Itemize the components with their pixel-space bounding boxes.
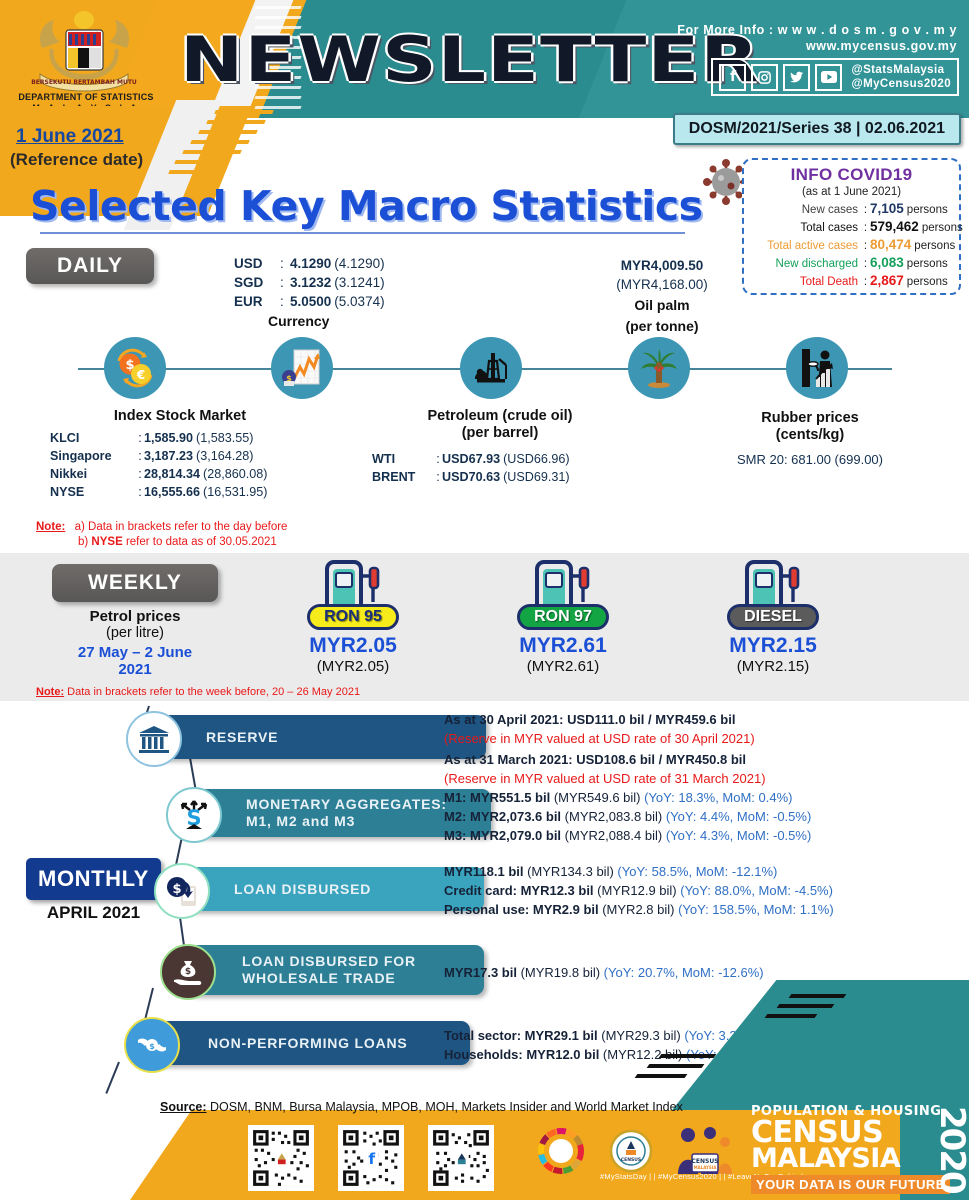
dosm-crest-logo: BERSEKUTU BERTAMBAH MUTU xyxy=(22,8,147,96)
handle-mycensus: @MyCensus2020 xyxy=(851,77,951,91)
fuel-tag-diesel: DIESEL xyxy=(727,604,819,630)
rubber-caption-2: (cents/kg) xyxy=(690,427,930,444)
m2-rest: (MYR2,083.8 bil) xyxy=(561,809,666,824)
loan-creditcard-change: (YoY: 88.0%, MoM: -4.5%) xyxy=(680,883,833,898)
currency-values: USD : 4.1290 (4.1290) SGD : 3.1232 (3.12… xyxy=(234,254,385,311)
oil-palm-value: MYR4,009.50 xyxy=(592,256,732,275)
daily-note: Note: a) Data in brackets refer to the d… xyxy=(36,520,287,550)
currency-previous: (3.1241) xyxy=(334,273,384,292)
petroleum-label: BRENT xyxy=(372,468,434,486)
npl-handshake-icon: $ xyxy=(124,1017,180,1073)
monthly-row-label-line1: MONETARY AGGREGATES: xyxy=(246,796,447,813)
daily-note-a: a) Data in brackets refer to the day bef… xyxy=(75,521,288,533)
money-bag-hand-icon: $ xyxy=(160,944,216,1000)
sdg-wheel-icon xyxy=(538,1128,584,1174)
monthly-row-loan-disbursed[interactable]: LOAN DISBURSED xyxy=(178,867,484,911)
petroleum-colon: : xyxy=(434,450,442,468)
fuel-previous-ron97: (MYR2.61) xyxy=(488,658,638,675)
svg-text:$: $ xyxy=(172,882,181,897)
fuel-previous-diesel: (MYR2.15) xyxy=(698,658,848,675)
title-divider xyxy=(40,232,685,234)
weekly-caption-3: 27 May – 2 June 2021 xyxy=(60,644,210,678)
footer-stripes-top xyxy=(750,990,870,1030)
covid-colon: : xyxy=(861,204,870,216)
oil-palm-caption-1: Oil palm xyxy=(592,296,732,315)
index-label: Nikkei xyxy=(50,465,136,483)
index-label: NYSE xyxy=(50,483,136,501)
weekly-caption-2: (per litre) xyxy=(60,625,210,641)
wholesale-change: (YoY: 20.7%, MoM: -12.6%) xyxy=(604,965,764,980)
census-logo-block: POPULATION & HOUSING CENSUS MALAYSIA YOU… xyxy=(751,1104,961,1194)
covid-value: 579,462 xyxy=(870,219,919,234)
wholesale-bold: MYR17.3 bil xyxy=(444,965,517,980)
source-text: DOSM, BNM, Bursa Malaysia, MPOB, MOH, Ma… xyxy=(207,1100,683,1114)
source-label: Source: xyxy=(160,1100,207,1114)
rubber-caption-1: Rubber prices xyxy=(690,410,930,427)
reserve-text: As at 30 April 2021: USD111.0 bil / MYR4… xyxy=(444,710,964,788)
infographic-page: BERSEKUTU BERTAMBAH MUTU DEPARTMENT OF S… xyxy=(0,0,969,1200)
svg-text:$: $ xyxy=(149,1042,155,1051)
loan-personal-rest: (MYR2.8 bil) xyxy=(599,902,678,917)
wholesale-line: MYR17.3 bil (MYR19.8 bil) (YoY: 20.7%, M… xyxy=(444,963,964,982)
weekly-caption: Petrol prices (per litre) 27 May – 2 Jun… xyxy=(60,608,210,678)
svg-text:CENSUS: CENSUS xyxy=(621,1157,641,1163)
social-handles: @StatsMalaysia @MyCensus2020 xyxy=(851,63,951,91)
rubber-block: Rubber prices (cents/kg) SMR 20: 681.00 … xyxy=(690,410,930,467)
loan-personal-line: Personal use: MYR2.9 bil (MYR2.8 bil) (Y… xyxy=(444,900,964,919)
m1-rest: (MYR549.6 bil) xyxy=(550,790,644,805)
petroleum-block: Petroleum (crude oil) (per barrel) WTI :… xyxy=(372,408,628,486)
weekly-note-text: Data in brackets refer to the week befor… xyxy=(64,686,360,698)
covid-colon: : xyxy=(861,222,870,234)
youtube-icon[interactable] xyxy=(815,64,842,91)
currency-value: 4.1290 xyxy=(290,254,331,273)
loan-creditcard-rest: (MYR12.9 bil) xyxy=(594,883,681,898)
fuel-tag-ron97: RON 97 xyxy=(517,604,609,630)
currency-row-usd: USD : 4.1290 (4.1290) xyxy=(234,254,385,273)
covid-label: Total cases xyxy=(750,222,861,234)
page-title: Selected Key Macro Statistics xyxy=(30,182,703,230)
index-colon: : xyxy=(136,447,144,465)
fuel-ron95: RON 95 MYR2.05 (MYR2.05) xyxy=(278,558,428,675)
currency-code: USD xyxy=(234,254,280,273)
fuel-ron97: RON 97 MYR2.61 (MYR2.61) xyxy=(488,558,638,675)
monthly-row-label: LOAN DISBURSED xyxy=(234,881,371,898)
petroleum-colon: : xyxy=(434,468,442,486)
covid-colon: : xyxy=(861,276,870,288)
covid-label: Total active cases xyxy=(750,240,861,252)
weekly-note-label: Note: xyxy=(36,686,64,698)
svg-text:CENSUS: CENSUS xyxy=(691,1158,718,1165)
covid-value: 6,083 xyxy=(870,255,904,270)
covid-row-total-cases: Total cases : 579,462 persons xyxy=(744,219,959,234)
fuel-price-ron97: MYR2.61 xyxy=(488,634,638,658)
index-row-nikkei: Nikkei : 28,814.34 (28,860.08) xyxy=(50,465,310,483)
currency-value: 5.0500 xyxy=(290,292,331,311)
petroleum-row-wti: WTI : USD67.93 (USD66.96) xyxy=(372,450,628,468)
monthly-row-label: RESERVE xyxy=(206,729,278,746)
m2-line: M2: MYR2,073.6 bil (MYR2,083.8 bil) (YoY… xyxy=(444,807,964,826)
reserve-line-2: As at 31 March 2021: USD108.6 bil / MYR4… xyxy=(444,750,964,769)
reference-date-label: (Reference date) xyxy=(10,150,143,170)
petroleum-previous: (USD69.31) xyxy=(503,468,570,486)
covid-unit: persons xyxy=(907,258,948,270)
covid-value: 7,105 xyxy=(870,201,904,216)
wholesale-rest: (MYR19.8 bil) xyxy=(517,965,604,980)
index-colon: : xyxy=(136,429,144,447)
petroleum-value: USD70.63 xyxy=(442,468,500,486)
palm-tree-icon xyxy=(628,337,690,399)
covid-title: INFO COVID19 xyxy=(744,165,959,185)
currency-exchange-icon: $ € xyxy=(104,337,166,399)
connector-line xyxy=(105,1062,120,1094)
currency-code: SGD xyxy=(234,273,280,292)
covid-row-total-active-cases: Total active cases : 80,474 persons xyxy=(744,237,959,252)
index-previous: (16,531.95) xyxy=(203,483,267,501)
index-previous: (3,164.28) xyxy=(196,447,253,465)
daily-note-label: Note: xyxy=(36,521,65,533)
index-value: 16,555.66 xyxy=(144,483,200,501)
daily-note-b-rest: refer to data as of 30.05.2021 xyxy=(123,536,277,548)
monthly-row-label-line2: M1, M2 and M3 xyxy=(246,813,355,830)
currency-colon: : xyxy=(280,273,290,292)
reference-date: 1 June 2021 xyxy=(16,126,124,148)
weekly-caption-1: Petrol prices xyxy=(60,608,210,625)
svg-text:BERSEKUTU BERTAMBAH MUTU: BERSEKUTU BERTAMBAH MUTU xyxy=(31,79,137,86)
series-badge: DOSM/2021/Series 38 | 02.06.2021 xyxy=(673,113,961,145)
m1-bold: M1: MYR551.5 bil xyxy=(444,790,550,805)
index-value: 1,585.90 xyxy=(144,429,193,447)
index-previous: (1,583.55) xyxy=(196,429,253,447)
social-media-box: f @StatsMalaysia @MyCensus2020 xyxy=(711,58,959,96)
svg-text:MALAYSIA: MALAYSIA xyxy=(694,1165,718,1170)
monthly-period: APRIL 2021 xyxy=(26,903,161,923)
covid-row-new-cases: New cases : 7,105 persons xyxy=(744,201,959,216)
petroleum-row-brent: BRENT : USD70.63 (USD69.31) xyxy=(372,468,628,486)
index-previous: (28,860.08) xyxy=(203,465,267,483)
oil-palm-values: MYR4,009.50 (MYR4,168.00) Oil palm (per … xyxy=(592,256,732,336)
wholesale-trade-text: MYR17.3 bil (MYR19.8 bil) (YoY: 20.7%, M… xyxy=(444,963,964,982)
npl-households-bold: Households: MYR12.0 bil xyxy=(444,1047,599,1062)
index-colon: : xyxy=(136,465,144,483)
m3-line: M3: MYR2,079.0 bil (MYR2,088.4 bil) (YoY… xyxy=(444,826,964,845)
stock-chart-icon: $ xyxy=(271,337,333,399)
covid-row-total-death: Total Death : 2,867 persons xyxy=(744,273,959,288)
handle-statsmalaysia: @StatsMalaysia xyxy=(851,63,951,77)
svg-text:f: f xyxy=(368,1150,375,1168)
loan-total-line: MYR118.1 bil (MYR134.3 bil) (YoY: 58.5%,… xyxy=(444,862,964,881)
index-stock-market-block: Index Stock Market KLCI : 1,585.90 (1,58… xyxy=(50,408,310,501)
footer-stripes-bottom xyxy=(620,1050,740,1090)
more-info-line1: For More Info : w w w . d o s m . g o v … xyxy=(677,22,957,38)
census-tagline: YOUR DATA IS OUR FUTURE xyxy=(751,1175,950,1194)
currency-code: EUR xyxy=(234,292,280,311)
instagram-icon[interactable] xyxy=(751,64,778,91)
index-row-klci: KLCI : 1,585.90 (1,583.55) xyxy=(50,429,310,447)
covid-colon: : xyxy=(861,258,870,270)
loan-total-rest: (MYR134.3 bil) xyxy=(523,864,617,879)
oil-palm-caption-2: (per tonne) xyxy=(592,317,732,336)
svg-text:€: € xyxy=(136,368,145,382)
loan-creditcard-line: Credit card: MYR12.3 bil (MYR12.9 bil) (… xyxy=(444,881,964,900)
index-label: Singapore xyxy=(50,447,136,465)
reserve-note-2: (Reserve in MYR valued at USD rate of 31… xyxy=(444,769,964,788)
covid-label: New discharged xyxy=(750,258,861,270)
monthly-row-reserve[interactable]: RESERVE xyxy=(150,715,486,759)
monthly-row-wholesale-trade[interactable]: LOAN DISBURSED FOR WHOLESALE TRADE xyxy=(186,945,484,995)
daily-note-b-prefix: b) xyxy=(78,536,91,548)
header-more-info: For More Info : w w w . d o s m . g o v … xyxy=(677,22,957,54)
loan-total-change: (YoY: 58.5%, MoM: -12.1%) xyxy=(617,864,777,879)
index-stock-caption: Index Stock Market xyxy=(50,408,310,425)
monthly-section-badge: MONTHLY xyxy=(26,858,161,900)
currency-caption: Currency xyxy=(268,313,329,329)
census-line-2: CENSUS xyxy=(751,1119,961,1146)
source-line: Source: DOSM, BNM, Bursa Malaysia, MPOB,… xyxy=(160,1100,683,1114)
currency-row-eur: EUR : 5.0500 (5.0374) xyxy=(234,292,385,311)
rubber-tapping-icon xyxy=(786,337,848,399)
fuel-tag-ron95: RON 95 xyxy=(307,604,399,630)
loan-total-bold: MYR118.1 bil xyxy=(444,864,523,879)
covid-label: Total Death xyxy=(750,276,861,288)
money-supply-icon: S xyxy=(166,787,222,843)
index-label: KLCI xyxy=(50,429,136,447)
more-info-line2: www.mycensus.gov.my xyxy=(677,38,957,54)
fuel-price-diesel: MYR2.15 xyxy=(698,634,848,658)
covid-unit: persons xyxy=(907,276,948,288)
covid-label: New cases xyxy=(750,204,861,216)
m3-rest: (MYR2,088.4 bil) xyxy=(561,828,666,843)
reserve-note-1: (Reserve in MYR valued at USD rate of 30… xyxy=(444,729,964,748)
covid-unit: persons xyxy=(922,222,963,234)
loan-personal-change: (YoY: 158.5%, MoM: 1.1%) xyxy=(678,902,834,917)
index-row-singapore: Singapore : 3,187.23 (3,164.28) xyxy=(50,447,310,465)
oil-palm-previous: (MYR4,168.00) xyxy=(592,275,732,294)
monthly-row-non-performing-loans[interactable]: NON-PERFORMING LOANS xyxy=(152,1021,470,1065)
index-value: 28,814.34 xyxy=(144,465,200,483)
fuel-diesel: DIESEL MYR2.15 (MYR2.15) xyxy=(698,558,848,675)
covid-unit: persons xyxy=(914,240,955,252)
rubber-value-line: SMR 20: 681.00 (699.00) xyxy=(690,452,930,467)
petroleum-previous: (USD66.96) xyxy=(503,450,570,468)
svg-text:$: $ xyxy=(185,967,191,977)
m1-change: (YoY: 18.3%, MoM: 0.4%) xyxy=(644,790,792,805)
covid-info-box: INFO COVID19 (as at 1 June 2021) New cas… xyxy=(742,158,961,295)
currency-value: 3.1232 xyxy=(290,273,331,292)
census-year: 2020 xyxy=(937,1106,967,1193)
covid-subtitle: (as at 1 June 2021) xyxy=(744,186,959,198)
covid-value: 2,867 xyxy=(870,273,904,288)
monthly-row-label-line2: WHOLESALE TRADE xyxy=(242,970,396,987)
twitter-icon[interactable] xyxy=(783,64,810,91)
m1-line: M1: MYR551.5 bil (MYR549.6 bil) (YoY: 18… xyxy=(444,788,964,807)
currency-previous: (5.0374) xyxy=(334,292,384,311)
covid-row-new-discharged: New discharged : 6,083 persons xyxy=(744,255,959,270)
currency-row-sgd: SGD : 3.1232 (3.1241) xyxy=(234,273,385,292)
currency-colon: : xyxy=(280,254,290,273)
monetary-aggregates-text: M1: MYR551.5 bil (MYR549.6 bil) (YoY: 18… xyxy=(444,788,964,845)
index-row-nyse: NYSE : 16,555.66 (16,531.95) xyxy=(50,483,310,501)
page-header: BERSEKUTU BERTAMBAH MUTU DEPARTMENT OF S… xyxy=(0,0,969,118)
daily-section-pill: DAILY xyxy=(26,248,154,284)
m2-bold: M2: MYR2,073.6 bil xyxy=(444,809,561,824)
mycensus-seal-icon: CENSUS xyxy=(608,1128,654,1174)
loan-creditcard-bold: Credit card: MYR12.3 bil xyxy=(444,883,594,898)
npl-total-bold: Total sector: MYR29.1 bil xyxy=(444,1028,598,1043)
qr-mycensus-icon[interactable] xyxy=(428,1125,494,1191)
currency-colon: : xyxy=(280,292,290,311)
oil-pump-icon xyxy=(460,337,522,399)
loan-personal-bold: Personal use: MYR2.9 bil xyxy=(444,902,599,917)
facebook-icon[interactable]: f xyxy=(719,64,746,91)
m3-change: (YoY: 4.3%, MoM: -0.5%) xyxy=(666,828,811,843)
covid-value: 80,474 xyxy=(870,237,911,252)
fuel-previous-ron95: (MYR2.05) xyxy=(278,658,428,675)
m3-bold: M3: MYR2,079.0 bil xyxy=(444,828,561,843)
weekly-note: Note: Data in brackets refer to the week… xyxy=(36,685,360,700)
petroleum-value: USD67.93 xyxy=(442,450,500,468)
reserve-line-1: As at 30 April 2021: USD111.0 bil / MYR4… xyxy=(444,710,964,729)
fuel-price-ron95: MYR2.05 xyxy=(278,634,428,658)
qr-facebook-icon[interactable]: f xyxy=(338,1125,404,1191)
qr-dosm-icon[interactable] xyxy=(248,1125,314,1191)
census-line-3: MALAYSIA xyxy=(751,1146,961,1172)
bank-building-icon xyxy=(126,711,182,767)
loan-disbursed-text: MYR118.1 bil (MYR134.3 bil) (YoY: 58.5%,… xyxy=(444,862,964,919)
covid-colon: : xyxy=(861,240,870,252)
m2-change: (YoY: 4.4%, MoM: -0.5%) xyxy=(666,809,811,824)
currency-previous: (4.1290) xyxy=(334,254,384,273)
petroleum-caption-1: Petroleum (crude oil) xyxy=(372,408,628,425)
monthly-row-label: NON-PERFORMING LOANS xyxy=(208,1035,408,1052)
petroleum-caption-2: (per barrel) xyxy=(372,425,628,442)
daily-note-b-bold: NYSE xyxy=(91,536,122,548)
npl-total-rest: (MYR29.3 bil) xyxy=(598,1028,685,1043)
monthly-row-label-line1: LOAN DISBURSED FOR xyxy=(242,953,416,970)
weekly-section-pill: WEEKLY xyxy=(52,564,218,602)
covid-unit: persons xyxy=(907,204,948,216)
index-value: 3,187.23 xyxy=(144,447,193,465)
loan-transfer-icon: $ xyxy=(154,863,210,919)
index-colon: : xyxy=(136,483,144,501)
petroleum-label: WTI xyxy=(372,450,434,468)
